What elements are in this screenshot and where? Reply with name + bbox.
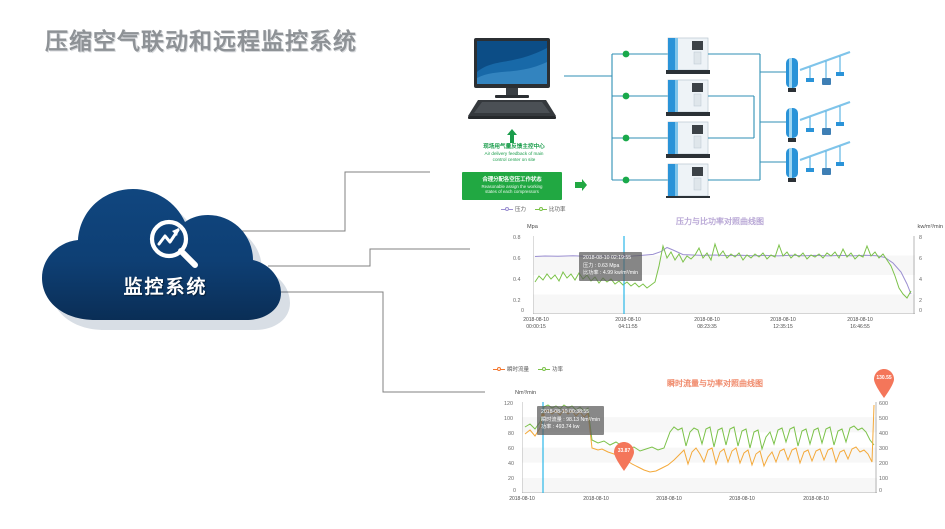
tooltip-line-2: 比功率 : 4.99 kw/m³/min <box>583 270 638 278</box>
chart1-ytick: 0.6 <box>513 256 521 262</box>
pin-icon <box>613 442 635 471</box>
chart2-ytick-right: 400 <box>879 431 888 437</box>
pressure-specific-power-chart[interactable]: 压力 比功率 压力与比功率对照曲线图 Mpa kw/m³/min 0.8 0.6… <box>495 202 945 335</box>
legend-item-flow[interactable]: 瞬时流量 <box>493 365 529 373</box>
chart2-legend: 瞬时流量 功率 <box>493 365 563 373</box>
tooltip-line-1: 瞬时流量 : 98.13 Nm³/min <box>541 417 600 425</box>
xtick-time: 00:00:15 <box>526 324 545 330</box>
xtick-date: 2018-08-10 <box>615 317 641 323</box>
pin-icon <box>873 369 895 398</box>
max-marker[interactable]: 130.55 <box>873 369 895 398</box>
legend-marker-icon <box>538 366 550 372</box>
chart2-xtick: 2018-08-10 <box>787 496 845 503</box>
chart1-ytick-right: 6 <box>919 256 922 262</box>
chart2-ytick-right: 200 <box>879 461 888 467</box>
chart2-ytick-right: 600 <box>879 401 888 407</box>
xtick-date: 2018-08-10 <box>847 317 873 323</box>
chart1-xtick: 2018-08-10 00:00:15 <box>507 317 565 331</box>
chart2-xtick: 2018-08-10 <box>640 496 698 503</box>
chart2-y-left-unit: Nm³/min <box>515 390 536 396</box>
chart1-ytick: 0.4 <box>513 277 521 283</box>
legend-marker-icon <box>535 206 547 212</box>
flow-power-chart[interactable]: 瞬时流量 功率 瞬时流量与功率对照曲线图 Nm³/min 120 100 80 … <box>485 362 945 529</box>
tooltip-line-2: 功率 : 493.74 kw <box>541 424 600 432</box>
chart2-ytick: 20 <box>508 476 514 482</box>
legend-label: 压力 <box>515 205 526 213</box>
chart1-ytick-right: 4 <box>919 277 922 283</box>
chart1-legend: 压力 比功率 <box>501 205 566 213</box>
max-marker-value: 130.55 <box>873 375 895 381</box>
legend-label: 比功率 <box>549 205 566 213</box>
chart1-ytick: 0 <box>521 308 524 314</box>
chart1-y-left-unit: Mpa <box>527 224 538 230</box>
chart2-ytick-right: 100 <box>879 476 888 482</box>
min-marker[interactable]: 33.87 <box>613 442 635 471</box>
tooltip-time: 2018-08-10 00:38:55 <box>541 409 600 417</box>
chart1-tooltip: 2018-08-10 02:19:55 压力 : 0.63 Mpa 比功率 : … <box>579 252 642 281</box>
tooltip-line-1: 压力 : 0.63 Mpa <box>583 263 638 271</box>
chart1-xtick: 2018-08-10 16:46:55 <box>831 317 889 331</box>
xtick-time: 16:46:55 <box>850 324 869 330</box>
diagram-caption: 现场用气量反馈主控中心 Air delivery feedback of mai… <box>455 144 573 162</box>
chart2-xtick: 2018-08-10 <box>713 496 771 503</box>
chart1-ytick-right: 0 <box>919 308 922 314</box>
chart2-ytick: 120 <box>504 401 513 407</box>
caption-en-2: control center on site <box>455 157 573 163</box>
xtick-time: 08:23:35 <box>697 324 716 330</box>
chart2-ytick: 100 <box>504 416 513 422</box>
green-up-arrow-icon <box>506 129 518 143</box>
legend-item-specific-power[interactable]: 比功率 <box>535 205 566 213</box>
chart1-ytick: 0.2 <box>513 298 521 304</box>
chart2-ytick: 80 <box>508 431 514 437</box>
chart2-ytick: 0 <box>513 488 516 494</box>
chart2-ytick: 60 <box>508 446 514 452</box>
legend-item-pressure[interactable]: 压力 <box>501 205 526 213</box>
chart2-ytick-right: 0 <box>879 488 882 494</box>
legend-label: 功率 <box>552 365 563 373</box>
desktop-monitor-icon <box>462 36 562 122</box>
chart2-ytick: 40 <box>508 461 514 467</box>
legend-label: 瞬时流量 <box>507 365 529 373</box>
min-marker-value: 33.87 <box>613 448 635 454</box>
chart1-title: 压力与比功率对照曲线图 <box>495 216 945 227</box>
xtick-time: 12:35:15 <box>773 324 792 330</box>
chart1-xtick: 2018-08-10 08:23:35 <box>678 317 736 331</box>
green-callout-box: 合理分配各空压工作状态 Reasonable assign the workin… <box>462 172 562 200</box>
xtick-date: 2018-08-10 <box>694 317 720 323</box>
green-box-en-2: states of each compressors <box>485 189 539 194</box>
chart1-ytick-right: 2 <box>919 298 922 304</box>
chart1-xtick: 2018-08-10 04:11:55 <box>599 317 657 331</box>
slide-canvas: 压缩空气联动和远程监控系统 监控系统 <box>0 0 945 529</box>
legend-item-power[interactable]: 功率 <box>538 365 563 373</box>
tooltip-time: 2018-08-10 02:19:55 <box>583 255 638 263</box>
chart2-ytick-right: 300 <box>879 446 888 452</box>
chart1-xtick: 2018-08-10 12:35:15 <box>754 317 812 331</box>
xtick-date: 2018-08-10 <box>523 317 549 323</box>
xtick-date: 2018-08-10 <box>770 317 796 323</box>
chart2-xtick: 2018-08-10 <box>567 496 625 503</box>
piping-and-equipment <box>564 30 942 198</box>
caption-cn: 现场用气量反馈主控中心 <box>455 144 573 151</box>
chart2-ytick-right: 500 <box>879 416 888 422</box>
monitoring-cloud[interactable]: 监控系统 <box>38 186 293 331</box>
chart2-tooltip: 2018-08-10 00:38:55 瞬时流量 : 98.13 Nm³/min… <box>537 406 604 435</box>
chart1-ytick-right: 8 <box>919 235 922 241</box>
chart1-ytick: 0.8 <box>513 235 521 241</box>
chart2-xtick: 2018-08-10 <box>493 496 551 503</box>
magnifier-chart-icon <box>146 216 202 272</box>
chart1-y-right-unit: kw/m³/min <box>918 224 943 230</box>
legend-marker-icon <box>493 366 505 372</box>
xtick-time: 04:11:55 <box>618 324 637 330</box>
legend-marker-icon <box>501 206 513 212</box>
cloud-label: 监控系统 <box>38 272 293 299</box>
compressed-air-system-diagram: 现场用气量反馈主控中心 Air delivery feedback of mai… <box>452 26 944 198</box>
